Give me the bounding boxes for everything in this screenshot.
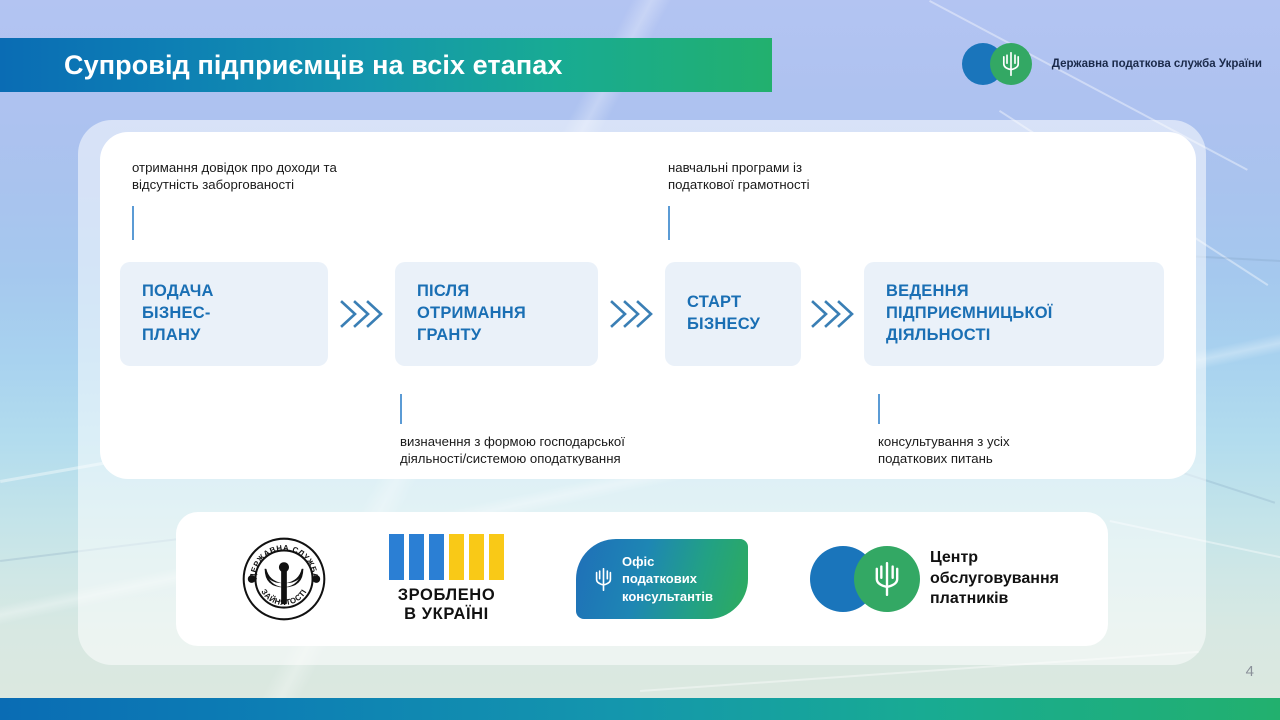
callout-bottom-1: визначення з формою господарської діяльн… [400,394,625,468]
callout-bottom-1-connector [400,394,402,424]
chevron-triple-icon [809,297,857,331]
bar-yellow-3 [489,534,504,580]
taxpayer-center-label: Центр обслуговування платників [930,548,1059,610]
taxpayer-dot-green [854,546,920,612]
made-in-ukraine-bars [389,534,504,580]
bar-blue-1 [389,534,404,580]
callout-top-2-connector [668,206,670,240]
stage-card-1[interactable]: ПОДАЧА БІЗНЕС- ПЛАНУ [120,262,328,366]
callout-bottom-1-text: визначення з формою господарської діяльн… [400,434,625,468]
callout-bottom-2-text: консультування з усіх податкових питань [878,434,1010,468]
stage-card-3[interactable]: СТАРТ БІЗНЕСУ [665,262,801,366]
bar-yellow-1 [449,534,464,580]
partner-made-in-ukraine: ЗРОБЛЕНО В УКРАЇНІ [389,534,504,624]
stage-card-2[interactable]: ПІСЛЯ ОТРИМАННЯ ГРАНТУ [395,262,598,366]
page-title: Супровід підприємців на всіх етапах [64,50,563,81]
callout-top-1: отримання довідок про доходи та відсутні… [132,160,337,240]
brand-logo: Державна податкова служба України [962,38,1262,90]
trident-icon [594,568,613,591]
chevron-triple-icon [338,297,386,331]
callout-top-2-text: навчальні програми із податкової грамотн… [668,160,810,194]
trident-icon [1001,52,1021,76]
tax-consultants-badge: Офіс податкових консультантів [576,539,748,619]
callout-top-1-connector [132,206,134,240]
partner-tax-consultants-office: Офіс податкових консультантів [576,539,748,619]
made-in-ukraine-label: ЗРОБЛЕНО В УКРАЇНІ [398,586,496,624]
partner-employment-service: ДЕРЖАВНА СЛУЖБА ЗАЙНЯТОСТІ [242,537,326,621]
chevron-triple-icon [608,297,656,331]
brand-dot-green [990,43,1032,85]
bar-yellow-2 [469,534,484,580]
slide-title-bar: Супровід підприємців на всіх етапах [0,38,772,92]
bar-blue-3 [429,534,444,580]
tax-consultants-label: Офіс податкових консультантів [622,553,713,605]
bottom-bar [0,698,1280,720]
stage-arrow-1 [328,262,395,366]
callout-top-2: навчальні програми із податкової грамотн… [668,160,810,240]
trident-icon [873,562,901,596]
employment-seal-icon: ДЕРЖАВНА СЛУЖБА ЗАЙНЯТОСТІ [242,537,326,621]
callout-bottom-2-connector [878,394,880,424]
brand-name: Державна податкова служба України [1052,57,1262,72]
stage-card-4-label: ВЕДЕННЯ ПІДПРИЄМНИЦЬКОЇ ДІЯЛЬНОСТІ [886,281,1053,346]
stage-card-1-label: ПОДАЧА БІЗНЕС- ПЛАНУ [142,281,214,346]
stage-row: ПОДАЧА БІЗНЕС- ПЛАНУ ПІСЛЯ ОТРИМАННЯ ГРА… [120,262,1154,366]
stage-arrow-2 [598,262,665,366]
partner-taxpayer-service-center: Центр обслуговування платників [810,546,1059,612]
stage-card-4[interactable]: ВЕДЕННЯ ПІДПРИЄМНИЦЬКОЇ ДІЯЛЬНОСТІ [864,262,1164,366]
bar-blue-2 [409,534,424,580]
page-number: 4 [1246,663,1254,680]
callout-bottom-2: консультування з усіх податкових питань [878,394,1010,468]
taxpayer-center-dots [810,546,920,612]
brand-dots [962,41,1044,87]
stage-card-3-label: СТАРТ БІЗНЕСУ [687,292,760,336]
stage-arrow-3 [801,262,864,366]
partners-card: ДЕРЖАВНА СЛУЖБА ЗАЙНЯТОСТІ [176,512,1108,646]
callout-top-1-text: отримання довідок про доходи та відсутні… [132,160,337,194]
slide-root: Супровід підприємців на всіх етапах Держ… [0,0,1280,720]
stage-card-2-label: ПІСЛЯ ОТРИМАННЯ ГРАНТУ [417,281,526,346]
